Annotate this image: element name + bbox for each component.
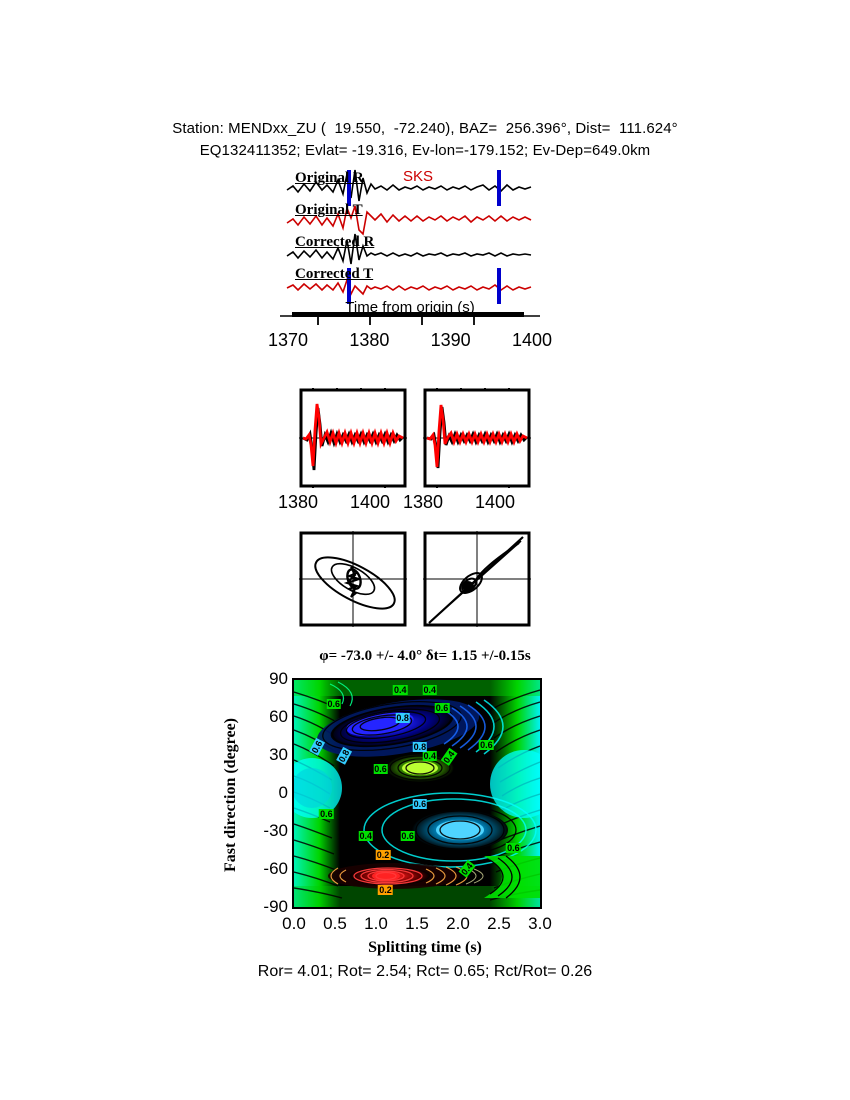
splitting-parameters-title: φ= -73.0 +/- 4.0° δt= 1.15 +/-0.15s: [0, 648, 850, 665]
contour-map: [292, 678, 542, 909]
comparison-trace-fast: [303, 404, 403, 466]
xtick-6: 3.0: [520, 914, 560, 934]
particle-motion-plot-elliptical: [299, 531, 407, 627]
contour-x-ticklabels: 0.0 0.5 1.0 1.5 2.0 2.5 3.0: [270, 914, 564, 938]
sks-phase-label: SKS: [403, 168, 433, 185]
comparison-tick-2: 1380: [403, 492, 443, 513]
waveform-stack-panel: Original R Original T Corrected R Correc…: [285, 168, 533, 308]
time-axis-ticklabels: 1370 1380 1390 1400: [268, 330, 552, 351]
particle-motion-plot-linear: [423, 531, 531, 627]
ytick-m60: -60: [242, 860, 288, 877]
basin-local-minimum-mid: [386, 754, 454, 782]
event-info-line: EQ132411352; Evlat= -19.316, Ev-lon=-179…: [0, 140, 850, 162]
ytick-90: 90: [242, 670, 288, 687]
trace-label-corrected-radial: Corrected R: [295, 234, 374, 251]
xtick-1: 0.5: [315, 914, 355, 934]
contour-y-axis-label: Fast direction (degree): [222, 480, 240, 690]
time-axis: Time from origin (s) 1370 1380 1390 1400: [280, 308, 540, 354]
figure-header: Station: MENDxx_ZU ( 19.550, -72.240), B…: [0, 118, 850, 162]
trace-label-corrected-transverse: Corrected T: [295, 266, 373, 283]
comparison-tick-0: 1380: [278, 492, 318, 513]
ytick-m90: -90: [242, 898, 288, 915]
comparison-trace-fast-corrected: [427, 405, 527, 467]
xtick-2: 1.0: [356, 914, 396, 934]
comparison-tick-3: 1400: [475, 492, 515, 513]
xtick-0: 0.0: [274, 914, 314, 934]
time-axis-title: Time from origin (s): [280, 299, 540, 316]
comparison-panel-uncorrected: [299, 388, 407, 488]
ytick-30: 30: [242, 746, 288, 763]
contour-x-axis-label: Splitting time (s): [0, 939, 850, 957]
xtick-5: 2.5: [479, 914, 519, 934]
ytick-m30: -30: [242, 822, 288, 839]
contour-y-ticklabels: 90 60 30 0 -30 -60 -90: [238, 678, 288, 909]
splitting-error-surface: 0.4 0.4 0.6 0.6 0.8 0.6 0.8 0.4 0.4 0.8 …: [292, 678, 538, 905]
quality-metrics-footer: Ror= 4.01; Rot= 2.54; Rct= 0.65; Rct/Rot…: [0, 963, 850, 981]
window-marker-end: [497, 170, 501, 206]
comparison-plot-corrected: [423, 388, 531, 488]
time-tick-0: 1370: [268, 330, 308, 351]
comparison-panels: [299, 388, 539, 490]
xtick-4: 2.0: [438, 914, 478, 934]
comparison-plot-uncorrected: [299, 388, 407, 488]
time-tick-2: 1390: [431, 330, 471, 351]
comparison-ticklabels: 1380 1400 1380 1400: [270, 492, 570, 518]
comparison-tick-1: 1400: [350, 492, 390, 513]
hodogram-outer-ellipse: [308, 547, 402, 618]
ytick-60: 60: [242, 708, 288, 725]
figure-page: Station: MENDxx_ZU ( 19.550, -72.240), B…: [0, 0, 850, 1100]
time-tick-1: 1380: [349, 330, 389, 351]
trace-label-original-radial: Original R: [295, 170, 364, 187]
particle-motion-corrected: [423, 531, 531, 627]
station-info-line: Station: MENDxx_ZU ( 19.550, -72.240), B…: [0, 118, 850, 140]
trace-label-original-transverse: Original T: [295, 202, 363, 219]
time-tick-3: 1400: [512, 330, 552, 351]
particle-motion-uncorrected: [299, 531, 407, 627]
comparison-panel-corrected: [423, 388, 531, 488]
particle-motion-panels: [299, 531, 539, 631]
ytick-0: 0: [242, 784, 288, 801]
xtick-3: 1.5: [397, 914, 437, 934]
